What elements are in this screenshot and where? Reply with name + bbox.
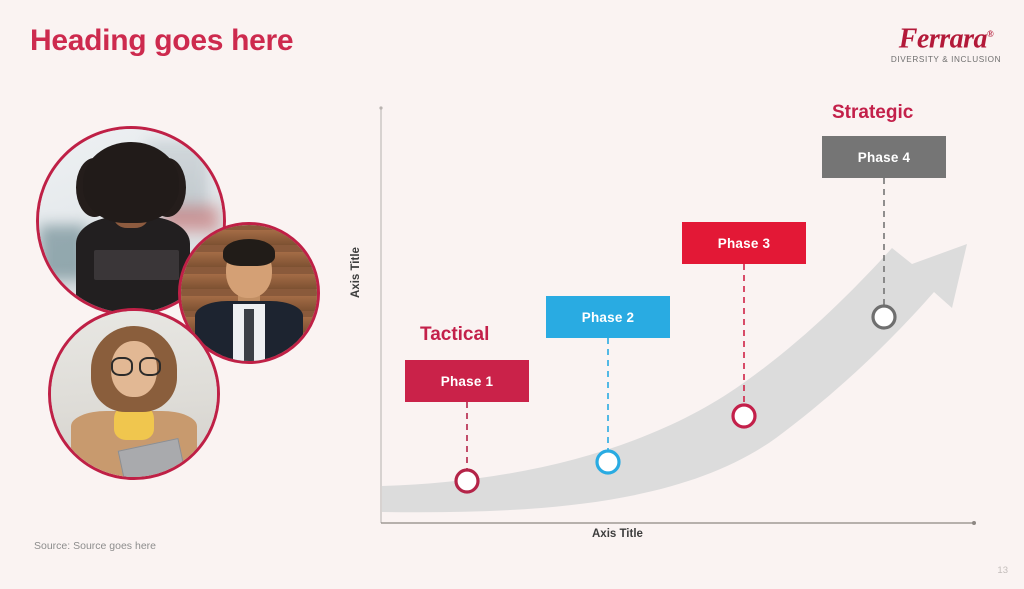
x-axis-title: Axis Title <box>592 528 643 540</box>
x-axis-tip <box>972 521 976 525</box>
logo-wordmark: Ferrara® <box>890 20 1002 53</box>
source-note: Source: Source goes here <box>34 540 156 552</box>
phase-box-3[interactable]: Phase 3 <box>682 222 806 264</box>
page-title: Heading goes here <box>30 24 293 58</box>
y-axis-title: Axis Title <box>350 247 362 298</box>
y-axis-tip <box>379 106 382 109</box>
phase-progression-chart: Axis Title Axis Title Tactical Strategic… <box>352 96 992 556</box>
tier-label-strategic: Strategic <box>832 102 913 124</box>
phase-box-1[interactable]: Phase 1 <box>405 360 529 402</box>
logo-wordmark-text: Ferrara <box>899 23 987 54</box>
data-point-phase-1 <box>456 470 478 492</box>
photo-3-artwork <box>51 311 217 477</box>
phase-box-4[interactable]: Phase 4 <box>822 136 946 178</box>
photo-woman-with-glasses-holding-laptop <box>48 308 220 480</box>
slide-canvas: Heading goes here Ferrara® DIVERSITY & I… <box>0 0 1024 589</box>
phase-box-2[interactable]: Phase 2 <box>546 296 670 338</box>
page-number: 13 <box>997 565 1008 576</box>
tier-label-tactical: Tactical <box>420 324 489 346</box>
logo-trademark-icon: ® <box>987 29 993 39</box>
ferrara-logo: Ferrara® DIVERSITY & INCLUSION <box>890 20 1002 64</box>
data-point-phase-4 <box>873 306 895 328</box>
logo-tagline: DIVERSITY & INCLUSION <box>890 55 1002 64</box>
data-point-phase-3 <box>733 405 755 427</box>
data-point-phase-2 <box>597 451 619 473</box>
